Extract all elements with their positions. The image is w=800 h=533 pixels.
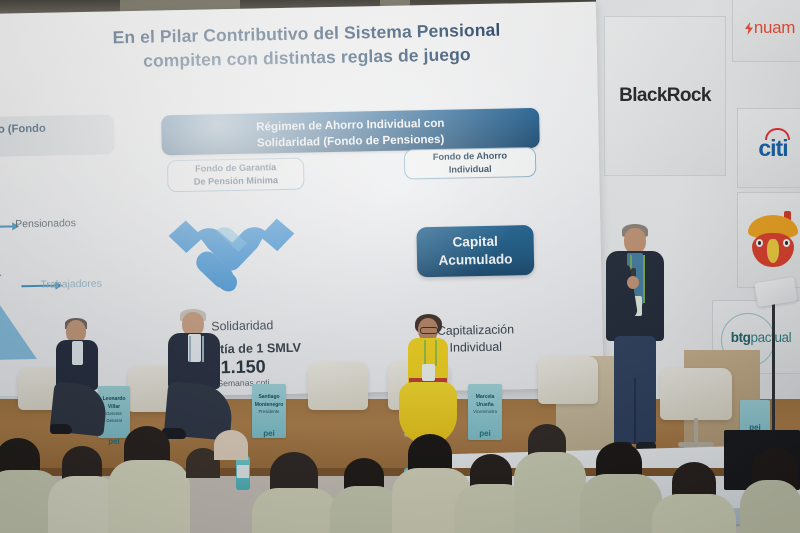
audience bbox=[0, 412, 800, 533]
audience-body bbox=[740, 480, 800, 533]
logo-blackrock-label: BlackRock bbox=[619, 85, 711, 107]
logo-citi: citi bbox=[737, 108, 800, 188]
water-bottle bbox=[236, 456, 250, 490]
audience-body bbox=[514, 452, 586, 533]
logo-blackrock: BlackRock bbox=[604, 16, 726, 176]
logo-bird-mascot bbox=[737, 192, 800, 288]
citi-arc-icon bbox=[765, 128, 790, 140]
audience-body bbox=[580, 474, 662, 533]
audience-head bbox=[214, 430, 248, 460]
chair bbox=[538, 356, 598, 404]
logo-nuam-label: nuam bbox=[745, 18, 795, 38]
bird-mascot-icon bbox=[744, 209, 800, 271]
lightning-bolt-icon bbox=[745, 22, 754, 35]
audience-body bbox=[108, 460, 190, 533]
screenshot-root: BlackRock nuam citi bbox=[0, 0, 800, 533]
logo-citi-label: citi bbox=[758, 135, 787, 162]
audience-body bbox=[252, 488, 338, 533]
logo-nuam: nuam bbox=[732, 0, 800, 62]
audience-body bbox=[652, 494, 736, 533]
chair bbox=[308, 362, 368, 410]
